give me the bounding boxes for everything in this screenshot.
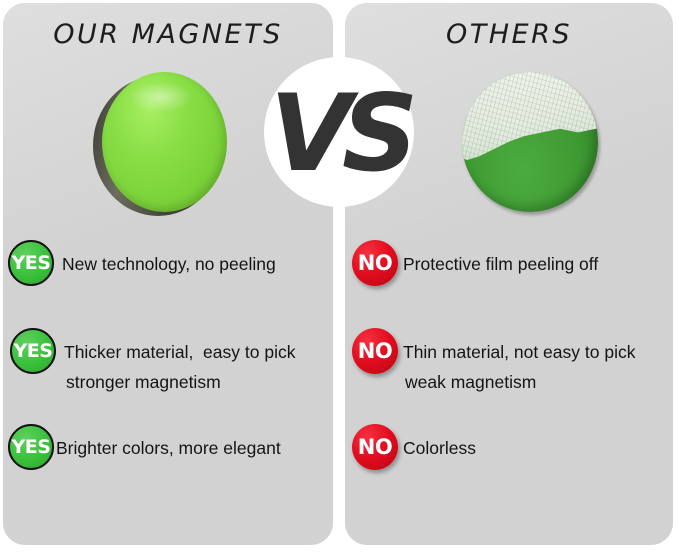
vs-badge-label: VS xyxy=(264,59,414,209)
yes-badge: YES xyxy=(8,424,54,470)
our-magnet-photo xyxy=(93,72,227,217)
feature-text-line-2: stronger magnetism xyxy=(66,367,295,397)
list-item: NO Colorless xyxy=(352,424,476,470)
no-badge: NO xyxy=(352,424,398,470)
feature-text: Protective film peeling off xyxy=(403,240,598,279)
vs-badge: VS xyxy=(264,57,414,207)
list-item: NO Thin material, not easy to pickweak m… xyxy=(352,328,635,397)
peeling-protective-film xyxy=(462,72,598,160)
no-badge: NO xyxy=(352,240,398,286)
magnet-gloss-highlight xyxy=(130,82,192,112)
column-title-our-magnets: OUR MAGNETS xyxy=(3,19,333,50)
feature-text-line-2: weak magnetism xyxy=(405,367,635,397)
no-badge: NO xyxy=(352,328,398,374)
feature-text: Colorless xyxy=(403,424,476,463)
feature-text-line-1: Thicker material, easy to pick xyxy=(64,342,295,362)
list-item: YES New technology, no peeling xyxy=(8,240,276,286)
yes-badge: YES xyxy=(10,328,56,374)
feature-text: Thin material, not easy to pickweak magn… xyxy=(403,328,635,397)
other-magnet-photo xyxy=(462,72,598,212)
list-item: NO Protective film peeling off xyxy=(352,240,598,286)
feature-text: Thicker material, easy to pickstronger m… xyxy=(64,328,295,397)
magnet-green-face xyxy=(102,72,227,212)
list-item: YES Thicker material, easy to pickstrong… xyxy=(10,328,295,397)
feature-text: New technology, no peeling xyxy=(62,240,276,279)
list-item: YES Brighter colors, more elegant xyxy=(8,424,281,470)
comparison-infographic: OUR MAGNETS OTHERS VS YES New technology… xyxy=(0,0,679,558)
feature-text: Brighter colors, more elegant xyxy=(56,424,281,463)
feature-text-line-1: Thin material, not easy to pick xyxy=(403,342,635,362)
magnet-green-face-dull xyxy=(462,72,598,212)
yes-badge: YES xyxy=(8,240,54,286)
column-title-others: OTHERS xyxy=(345,19,673,50)
